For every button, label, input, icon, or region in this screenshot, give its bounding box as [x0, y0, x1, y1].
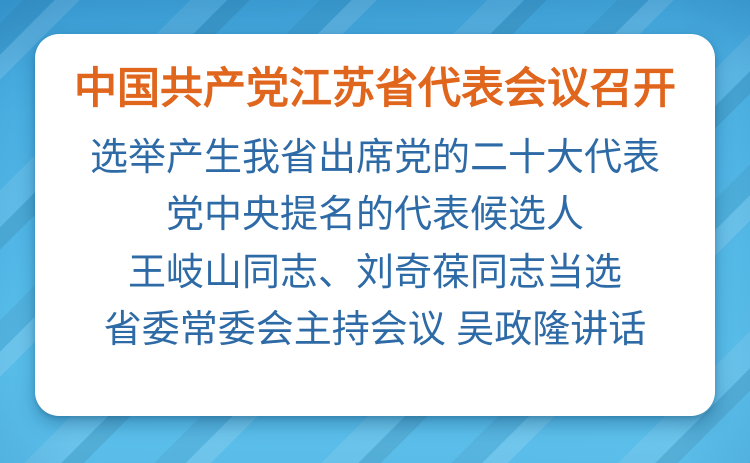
news-poster: 中国共产党江苏省代表会议召开 选举产生我省出席党的二十大代表 党中央提名的代表候… — [0, 0, 750, 463]
headline-title: 中国共产党江苏省代表会议召开 — [74, 67, 676, 112]
subheadline-line-1: 选举产生我省出席党的二十大代表 — [90, 132, 660, 185]
subheadline-line-2: 党中央提名的代表候选人 — [166, 189, 584, 242]
subheadline-group: 选举产生我省出席党的二十大代表 党中央提名的代表候选人 王岐山同志、刘奇葆同志当… — [90, 132, 660, 357]
subheadline-line-4: 省委常委会主持会议 吴政隆讲话 — [104, 304, 647, 357]
subheadline-line-3: 王岐山同志、刘奇葆同志当选 — [128, 247, 622, 300]
content-card: 中国共产党江苏省代表会议召开 选举产生我省出席党的二十大代表 党中央提名的代表候… — [35, 34, 715, 416]
